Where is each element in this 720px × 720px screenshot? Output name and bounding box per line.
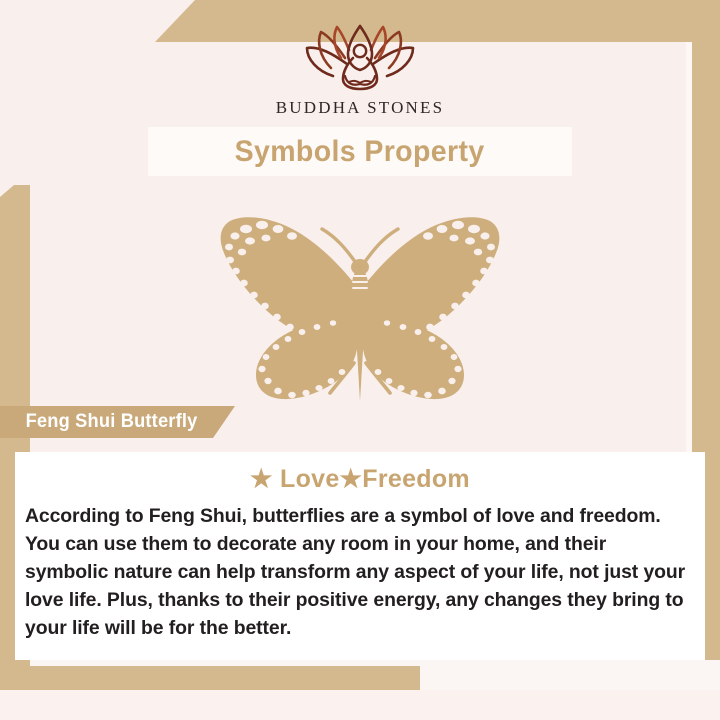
page-title: Symbols Property [235, 135, 485, 169]
category-tab: Feng Shui Butterfly [0, 406, 235, 438]
brand-logo: BUDDHA STONES [0, 24, 720, 118]
category-tab-label: Feng Shui Butterfly [26, 411, 198, 433]
content-card: ★ Love★Freedom According to Feng Shui, b… [15, 452, 705, 660]
butterfly-icon [186, 205, 534, 405]
frame-accent-bottom [0, 666, 420, 690]
content-paragraph: According to Feng Shui, butterflies are … [25, 502, 692, 642]
bottom-pink-strip [0, 690, 720, 720]
poster-root: BUDDHA STONES Symbols Property [0, 0, 720, 720]
lotus-meditation-icon [285, 24, 435, 92]
content-heading: ★ Love★Freedom [15, 452, 705, 494]
title-banner: Symbols Property [148, 127, 572, 176]
butterfly-illustration [186, 205, 534, 405]
brand-name: BUDDHA STONES [276, 98, 445, 118]
